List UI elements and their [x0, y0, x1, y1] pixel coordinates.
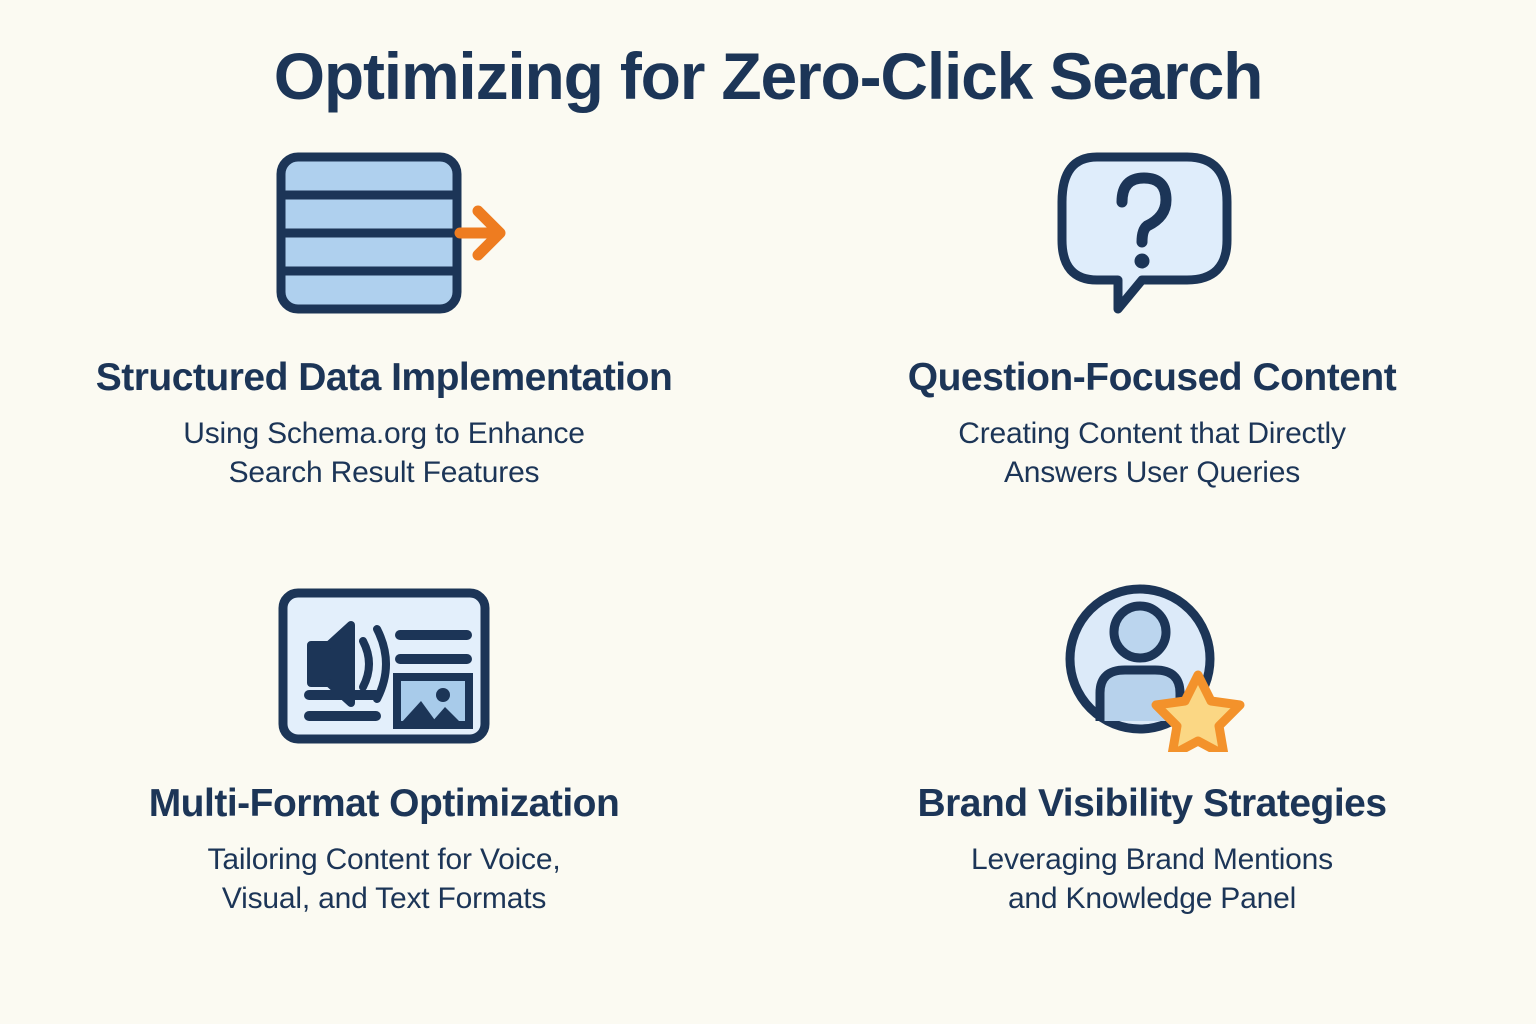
card-brand-visibility: Brand Visibility Strategies Leveraging B…: [768, 578, 1536, 988]
structured-data-stack-icon: [259, 146, 509, 321]
card-title: Multi-Format Optimization: [149, 781, 620, 826]
card-subtitle-line: Leveraging Brand Mentions: [971, 840, 1333, 879]
card-subtitle-line: Using Schema.org to Enhance: [183, 414, 585, 453]
card-subtitle-line: Tailoring Content for Voice,: [208, 840, 561, 879]
card-subtitle-line: and Knowledge Panel: [971, 879, 1333, 918]
multi-format-media-panel-icon: [275, 584, 493, 749]
card-subtitle-line: Answers User Queries: [958, 453, 1346, 492]
card-subtitle-line: Search Result Features: [183, 453, 585, 492]
card-title: Structured Data Implementation: [96, 355, 673, 400]
card-structured-data: Structured Data Implementation Using Sch…: [0, 138, 768, 578]
card-subtitle: Creating Content that Directly Answers U…: [958, 414, 1346, 492]
question-speech-bubble-icon: [1052, 146, 1252, 321]
page-title: Optimizing for Zero-Click Search: [0, 0, 1536, 112]
card-title: Question-Focused Content: [908, 355, 1397, 400]
card-subtitle-line: Visual, and Text Formats: [208, 879, 561, 918]
card-multi-format: Multi-Format Optimization Tailoring Cont…: [0, 578, 768, 988]
infographic-page: Optimizing for Zero-Click Search Structu…: [0, 0, 1536, 1024]
card-subtitle-line: Creating Content that Directly: [958, 414, 1346, 453]
card-subtitle: Leveraging Brand Mentions and Knowledge …: [971, 840, 1333, 918]
card-subtitle: Tailoring Content for Voice, Visual, and…: [208, 840, 561, 918]
card-grid: Structured Data Implementation Using Sch…: [0, 138, 1536, 988]
card-title: Brand Visibility Strategies: [917, 781, 1386, 826]
card-question-focused: Question-Focused Content Creating Conten…: [768, 138, 1536, 578]
card-subtitle: Using Schema.org to Enhance Search Resul…: [183, 414, 585, 492]
user-star-badge-icon: [1052, 584, 1252, 749]
